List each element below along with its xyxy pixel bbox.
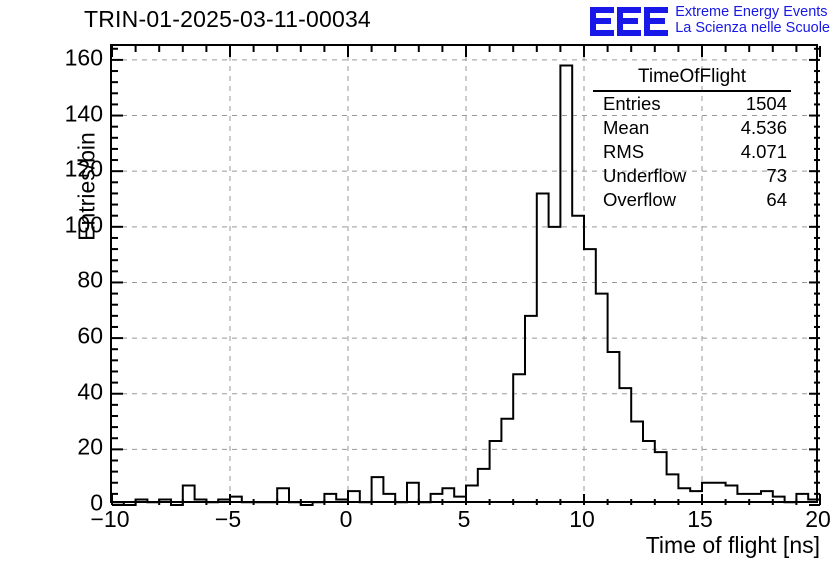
stats-row: Entries1504 [593, 92, 791, 116]
x-tick-label: 5 [458, 506, 471, 533]
x-tick-label: 0 [340, 506, 353, 533]
y-tick-label: 140 [65, 100, 103, 127]
y-tick-label: 120 [65, 156, 103, 183]
stats-row-value: 73 [766, 164, 787, 188]
stats-box-rows: Entries1504Mean4.536RMS4.071Underflow73O… [593, 92, 791, 212]
page-title: TRIN-01-2025-03-11-00034 [84, 6, 371, 33]
x-tick-label: 20 [805, 506, 831, 533]
stats-row-value: 1504 [746, 92, 787, 116]
stats-row-value: 4.536 [741, 116, 787, 140]
x-tick-label: 10 [569, 506, 595, 533]
eee-logo: Extreme Energy Events La Scienza nelle S… [590, 3, 830, 39]
y-tick-label: 60 [77, 323, 103, 350]
stats-row-key: Mean [603, 116, 649, 140]
eee-logo-letter [644, 7, 668, 36]
stats-row-key: Underflow [603, 164, 686, 188]
eee-logo-text: Extreme Energy Events La Scienza nelle S… [675, 5, 830, 36]
stats-box: TimeOfFlight Entries1504Mean4.536RMS4.07… [593, 66, 791, 212]
y-tick-label: 160 [65, 44, 103, 71]
eee-logo-line1: Extreme Energy Events [675, 5, 830, 21]
x-tick-label: 15 [687, 506, 713, 533]
stats-row: Mean4.536 [593, 116, 791, 140]
y-tick-label: 40 [77, 378, 103, 405]
stats-row-key: Entries [603, 92, 661, 116]
stats-box-title: TimeOfFlight [593, 66, 791, 92]
stats-row-value: 64 [766, 188, 787, 212]
y-tick-label: 100 [65, 211, 103, 238]
stats-row-key: RMS [603, 140, 644, 164]
stats-row: Overflow64 [593, 188, 791, 212]
eee-logo-letter [590, 7, 614, 36]
eee-logo-mark [590, 7, 668, 36]
x-axis-title: Time of flight [ns] [646, 532, 820, 559]
y-tick-label: 80 [77, 267, 103, 294]
stats-row: RMS4.071 [593, 140, 791, 164]
eee-logo-line2: La Scienza nelle Scuole [675, 21, 830, 37]
stats-row-key: Overflow [603, 188, 676, 212]
stats-row-value: 4.071 [741, 140, 787, 164]
x-tick-label: −5 [215, 506, 241, 533]
y-tick-label: 0 [90, 490, 103, 517]
stats-row: Underflow73 [593, 164, 791, 188]
y-tick-label: 20 [77, 434, 103, 461]
eee-logo-letter [617, 7, 641, 36]
